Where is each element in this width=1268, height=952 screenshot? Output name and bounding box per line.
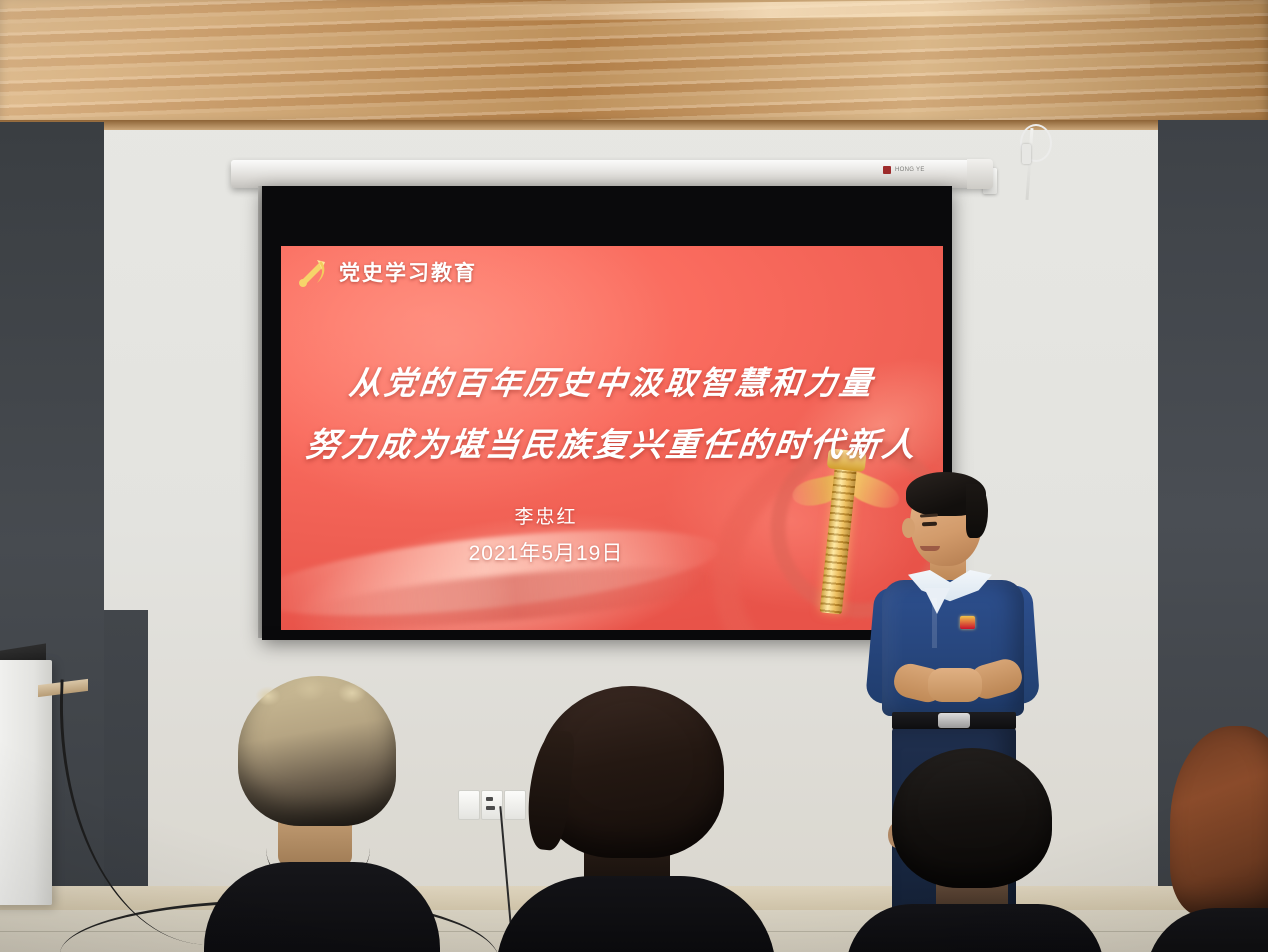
presenter-hands — [928, 668, 982, 702]
slide-presenter-name: 李忠红 — [281, 502, 811, 529]
audience-member-auburn — [1164, 726, 1268, 952]
ceiling-edge-trim — [0, 120, 1268, 130]
audience-blond-hair-spikes — [240, 668, 390, 728]
party-emblem-pin-icon — [960, 616, 975, 629]
wood-slat-ceiling — [0, 0, 1268, 128]
slide-title-line-1: 从党的百年历史中汲取智慧和力量 — [281, 352, 943, 414]
slide-header: 党史学习教育 — [295, 256, 477, 288]
socket-plate-1[interactable] — [458, 790, 480, 820]
housing-end-cap — [967, 159, 993, 189]
presenter-eye — [922, 522, 937, 527]
slide-header-title: 党史学习教育 — [339, 257, 477, 287]
presenter-mouth — [920, 546, 940, 551]
screen-brand-text: HONG YE — [895, 167, 925, 173]
audience-auburn-hair — [1170, 726, 1268, 916]
wall-socket-panel[interactable] — [458, 790, 526, 820]
ceiling-highlight — [390, 0, 1150, 22]
audience-member-blond — [230, 676, 410, 952]
slide-meta: 李忠红 2021年5月19日 — [281, 502, 811, 567]
slide-title-line-2: 努力成为堪当民族复兴重任的时代新人 — [281, 414, 943, 476]
audience-member-black — [880, 748, 1066, 952]
socket-slot-top — [486, 797, 493, 801]
slide-date: 2021年5月19日 — [281, 537, 811, 567]
cord-connector-box — [1022, 144, 1031, 164]
presenter-ear — [902, 518, 915, 538]
lecture-hall-photo: HONG YE — [0, 0, 1268, 952]
audience-black-hair — [892, 748, 1052, 888]
audience-blond-shirt — [204, 862, 440, 952]
presenter-belt-buckle — [938, 713, 970, 728]
audience-black-shirt — [846, 904, 1104, 952]
socket-slot-bottom — [486, 806, 495, 810]
audience-auburn-shirt — [1146, 908, 1268, 952]
presenter-hair-side — [966, 484, 988, 538]
screen-brand-label: HONG YE — [883, 166, 925, 174]
projector-screen-housing[interactable]: HONG YE — [231, 160, 991, 188]
cpc-hammer-sickle-emblem-icon — [295, 256, 329, 288]
lectern[interactable]: UNIVERSITY — [0, 660, 52, 905]
audience-brown-shirt — [496, 876, 776, 952]
slide-title: 从党的百年历史中汲取智慧和力量 努力成为堪当民族复兴重任的时代新人 — [281, 352, 943, 476]
presenter-placket — [932, 598, 937, 648]
audience-member-brown — [520, 686, 740, 952]
brand-mark-icon — [883, 166, 891, 174]
presentation-slide[interactable]: 党史学习教育 从党的百年历史中汲取智慧和力量 努力成为堪当民族复兴重任的时代新人… — [281, 246, 943, 630]
